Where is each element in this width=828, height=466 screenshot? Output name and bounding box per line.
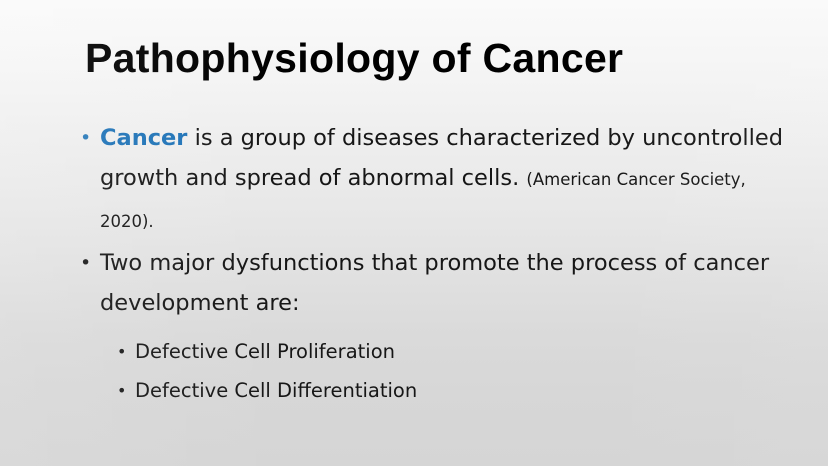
- slide-body: • Cancer is a group of diseases characte…: [80, 118, 792, 410]
- page-title: Pathophysiology of Cancer: [85, 34, 623, 82]
- list-item: • Two major dysfunctions that promote th…: [80, 243, 792, 323]
- list-item: • Defective Cell Proliferation: [117, 332, 792, 371]
- bullet-dot-icon: •: [117, 332, 135, 371]
- sub-bullet-list: • Defective Cell Proliferation • Defecti…: [117, 332, 792, 410]
- sub-bullet-text: Defective Cell Differentiation: [135, 371, 417, 410]
- slide-canvas: Pathophysiology of Cancer • Cancer is a …: [0, 0, 828, 466]
- bullet-dot-icon: •: [80, 243, 100, 283]
- list-item: • Cancer is a group of diseases characte…: [80, 118, 792, 242]
- keyword-cancer: Cancer: [100, 125, 187, 151]
- bullet-body-text: Two major dysfunctions that promote the …: [100, 243, 792, 323]
- bullet-dot-icon: •: [117, 371, 135, 410]
- list-item-text: Cancer is a group of diseases characteri…: [100, 118, 792, 242]
- bullet-dot-icon: •: [80, 118, 100, 158]
- sub-bullet-text: Defective Cell Proliferation: [135, 332, 395, 371]
- list-item: • Defective Cell Differentiation: [117, 371, 792, 410]
